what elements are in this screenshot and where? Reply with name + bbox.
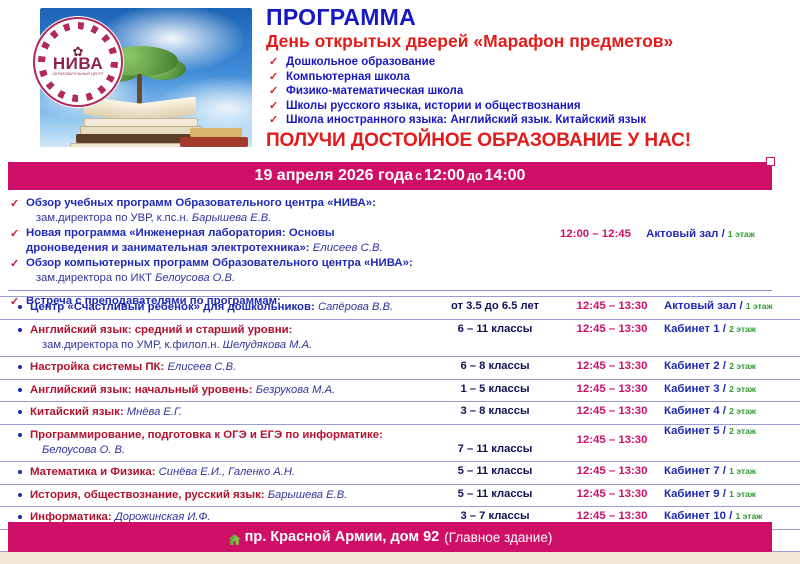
program-title: Китайский язык: bbox=[30, 406, 127, 418]
program-cell: История, обществознание, русский язык: Б… bbox=[0, 485, 430, 507]
grades-cell: 5 – 11 классы bbox=[440, 462, 550, 477]
intro-detail-person: Елисеев С.В. bbox=[313, 242, 383, 254]
time-cell: 12:45 – 13:30 bbox=[556, 462, 668, 477]
room-label: Кабинет 4 / bbox=[664, 405, 726, 417]
program-title: Математика и Физика: bbox=[30, 466, 159, 478]
bullet-icon bbox=[18, 410, 22, 414]
time-cell: 12:45 – 13:30 bbox=[556, 357, 668, 372]
logo-wordmark: НИВА bbox=[52, 56, 103, 72]
table-row: Английский язык: начальный уровень: Безр… bbox=[0, 380, 800, 403]
bullet-icon bbox=[18, 470, 22, 474]
program-teacher: Безрукова М.А. bbox=[256, 384, 335, 396]
time-cell: 12:45 – 13:30 bbox=[556, 402, 668, 417]
floor-label: 1 этаж bbox=[729, 466, 756, 476]
header-bullet-item: ✓Школы русского языка, истории и обществ… bbox=[266, 99, 794, 114]
intro-block: ✓ Обзор учебных программ Образовательног… bbox=[0, 196, 800, 286]
check-icon: ✓ bbox=[10, 227, 19, 240]
time-cell: 12:45 – 13:30 bbox=[556, 507, 668, 522]
page-title: ПРОГРАММА bbox=[266, 4, 794, 30]
footer-note: (Главное здание) bbox=[444, 530, 552, 545]
floor-label: 1 этаж bbox=[729, 489, 756, 499]
bullet-icon bbox=[18, 305, 22, 309]
grades-cell: 6 – 11 классы bbox=[440, 320, 550, 335]
table-row: Английский язык: средний и старший уровн… bbox=[0, 320, 800, 358]
room-label: Актовый зал / bbox=[664, 300, 743, 312]
poster-header: ✿ НИВА ОБРАЗОВАТЕЛЬНЫЙ ЦЕНТР ПРОГРАММА Д… bbox=[0, 0, 800, 156]
event-date: 19 апреля 2026 года bbox=[255, 167, 414, 185]
time-to-label: до bbox=[467, 169, 483, 183]
table-row: История, обществознание, русский язык: Б… bbox=[0, 485, 800, 508]
time-from-label: с bbox=[415, 169, 422, 183]
check-icon: ✓ bbox=[10, 197, 19, 210]
program-teacher: Барышева Е.В. bbox=[268, 489, 348, 501]
room-cell: Кабинет 4 / 2 этаж bbox=[664, 402, 800, 417]
program-title: Английский язык: начальный уровень: bbox=[30, 384, 256, 396]
check-icon: ✓ bbox=[269, 84, 278, 99]
bullet-icon bbox=[18, 365, 22, 369]
intro-detail-plain: зам.директора по ИКТ bbox=[36, 272, 155, 284]
program-name: Английский язык: начальный уровень: Безр… bbox=[30, 383, 430, 399]
room-cell: Кабинет 3 / 2 этаж bbox=[664, 380, 800, 395]
book-side-1 bbox=[190, 128, 242, 137]
time-cell: 12:45 – 13:30 bbox=[556, 380, 668, 395]
program-subline-person: Шелудякова М.А. bbox=[223, 339, 313, 351]
book-side-2 bbox=[180, 137, 248, 147]
table-row: Китайский язык: Мнёва Е.Г.3 – 8 классы12… bbox=[0, 402, 800, 425]
header-text-block: ПРОГРАММА День открытых дверей «Марафон … bbox=[266, 4, 794, 153]
page-subtitle: День открытых дверей «Марафон предметов» bbox=[266, 29, 794, 53]
grades-cell: 3 – 7 классы bbox=[440, 507, 550, 522]
intro-item-detail: зам.директора по УВР, к.пс.н. Барышева Е… bbox=[26, 211, 800, 226]
logo-subtitle: ОБРАЗОВАТЕЛЬНЫЙ ЦЕНТР bbox=[52, 72, 103, 77]
table-row: Настройка системы ПК: Елисеев С.В.6 – 8 … bbox=[0, 357, 800, 380]
floor-label: 1 этаж bbox=[746, 301, 773, 311]
poster-root: ✿ НИВА ОБРАЗОВАТЕЛЬНЫЙ ЦЕНТР ПРОГРАММА Д… bbox=[0, 0, 800, 564]
floor-label: 2 этаж bbox=[729, 384, 756, 394]
footer-address-bar: пр. Красной Армии, дом 92 (Главное здани… bbox=[8, 522, 772, 552]
program-cell: Программирование, подготовка к ОГЭ и ЕГЭ… bbox=[0, 425, 430, 462]
room-label: Кабинет 3 / bbox=[664, 383, 726, 395]
check-icon: ✓ bbox=[269, 55, 278, 70]
program-name: Английский язык: средний и старший уровн… bbox=[30, 323, 430, 339]
intro-detail-person: Белоусова О.В. bbox=[155, 272, 235, 284]
bullet-icon bbox=[18, 433, 22, 437]
intro-item-title: Обзор компьютерных программ Образователь… bbox=[26, 256, 800, 271]
grades-cell: 5 – 11 классы bbox=[440, 485, 550, 500]
intro-meta: 12:00 – 12:45 Актовый зал / 1 этаж bbox=[560, 228, 800, 240]
program-table: Центр «Счастливый ребенок» для дошкольни… bbox=[0, 296, 800, 552]
table-row: Центр «Счастливый ребенок» для дошкольни… bbox=[0, 296, 800, 320]
intro-item: ✓ Обзор учебных программ Образовательног… bbox=[0, 196, 800, 226]
program-teacher: Елисеев С.В. bbox=[167, 361, 236, 373]
header-bullet-item: ✓Дошкольное образование bbox=[266, 55, 794, 70]
intro-room: Актовый зал / bbox=[646, 228, 725, 240]
header-bullet-label: Дошкольное образование bbox=[286, 56, 435, 68]
check-icon: ✓ bbox=[269, 113, 278, 128]
room-label: Кабинет 9 / bbox=[664, 488, 726, 500]
floor-label: 2 этаж bbox=[729, 324, 756, 334]
room-label: Кабинет 1 / bbox=[664, 323, 726, 335]
header-bullet-label: Школы русского языка, истории и общество… bbox=[286, 100, 581, 112]
room-label: Кабинет 2 / bbox=[664, 360, 726, 372]
grades-cell: 1 – 5 классы bbox=[440, 380, 550, 395]
room-label: Кабинет 7 / bbox=[664, 465, 726, 477]
bullet-icon bbox=[18, 515, 22, 519]
intro-detail-plain: зам.директора по УВР, к.пс.н. bbox=[36, 212, 192, 224]
program-subline-person: Белоусова О. В. bbox=[42, 444, 125, 456]
room-cell: Кабинет 7 / 1 этаж bbox=[664, 462, 800, 477]
room-cell: Кабинет 5 / 2 этаж bbox=[664, 425, 800, 437]
footer-address: пр. Красной Армии, дом 92 bbox=[245, 529, 440, 545]
floor-label: 2 этаж bbox=[729, 426, 756, 436]
check-icon: ✓ bbox=[269, 99, 278, 114]
program-name: Китайский язык: Мнёва Е.Г. bbox=[30, 405, 430, 421]
program-name: История, обществознание, русский язык: Б… bbox=[30, 488, 430, 504]
room-label: Кабинет 10 / bbox=[664, 510, 732, 522]
niva-logo: ✿ НИВА ОБРАЗОВАТЕЛЬНЫЙ ЦЕНТР bbox=[33, 17, 123, 107]
bullet-icon bbox=[18, 328, 22, 332]
floor-label: 2 этаж bbox=[729, 406, 756, 416]
program-teacher: Мнёва Е.Г. bbox=[127, 406, 182, 418]
program-teacher: Сапёрова В.В. bbox=[318, 301, 393, 313]
program-title: Центр «Счастливый ребенок» для дошкольни… bbox=[30, 301, 318, 313]
intro-item-title: Обзор учебных программ Образовательного … bbox=[26, 196, 800, 211]
header-bullet-item: ✓Физико-математическая школа bbox=[266, 84, 794, 99]
resize-handle[interactable] bbox=[766, 157, 775, 166]
room-cell: Кабинет 9 / 1 этаж bbox=[664, 485, 800, 500]
room-cell: Кабинет 10 / 1 этаж bbox=[664, 507, 800, 522]
table-row: Математика и Физика: Синёва Е.И., Галенк… bbox=[0, 462, 800, 485]
header-bullet-label: Компьютерная школа bbox=[286, 71, 410, 83]
intro-item: ✓ Обзор компьютерных программ Образовате… bbox=[0, 256, 800, 286]
header-bullet-label: Школа иностранного языка: Английский язы… bbox=[286, 114, 646, 126]
grades-cell: от 3.5 до 6.5 лет bbox=[440, 297, 550, 312]
room-cell: Кабинет 1 / 2 этаж bbox=[664, 320, 800, 335]
header-bullet-item: ✓Школа иностранного языка: Английский яз… bbox=[266, 113, 794, 128]
time-cell: 12:45 – 13:30 bbox=[556, 297, 668, 312]
room-cell: Кабинет 2 / 2 этаж bbox=[664, 357, 800, 372]
program-subline: зам.директора по УМР, к.филол.н. Шелудяк… bbox=[30, 338, 430, 353]
intro-item-detail: зам.директора по ИКТ Белоусова О.В. bbox=[26, 271, 800, 286]
program-teacher: Синёва Е.И., Галенко А.Н. bbox=[159, 466, 295, 478]
program-cell: Английский язык: начальный уровень: Безр… bbox=[0, 380, 430, 402]
tree-trunk bbox=[137, 74, 142, 104]
intro-time: 12:00 – 12:45 bbox=[560, 228, 631, 240]
bullet-icon bbox=[18, 388, 22, 392]
bottom-strip bbox=[0, 552, 800, 564]
program-cell: Настройка системы ПК: Елисеев С.В. bbox=[0, 357, 430, 379]
check-icon: ✓ bbox=[10, 257, 19, 270]
program-cell: Математика и Физика: Синёва Е.И., Галенк… bbox=[0, 462, 430, 484]
program-name: Программирование, подготовка к ОГЭ и ЕГЭ… bbox=[30, 428, 430, 444]
house-icon bbox=[228, 533, 241, 546]
program-subline-plain: зам.директора по УМР, к.филол.н. bbox=[42, 339, 223, 351]
header-bullet-item: ✓Компьютерная школа bbox=[266, 70, 794, 85]
program-subline: Белоусова О. В. bbox=[30, 443, 430, 458]
intro-detail-person: Барышева Е.В. bbox=[192, 212, 272, 224]
floor-label: 2 этаж bbox=[729, 361, 756, 371]
program-name: Математика и Физика: Синёва Е.И., Галенк… bbox=[30, 465, 430, 481]
time-from-value: 12:00 bbox=[424, 167, 465, 185]
header-cta: ПОЛУЧИ ДОСТОЙНОЕ ОБРАЗОВАНИЕ У НАС! bbox=[266, 129, 794, 153]
intro-floor: 1 этаж bbox=[728, 229, 755, 239]
program-cell: Центр «Счастливый ребенок» для дошкольни… bbox=[0, 297, 430, 319]
time-to-value: 14:00 bbox=[485, 167, 526, 185]
grades-cell: 3 – 8 классы bbox=[440, 402, 550, 417]
check-icon: ✓ bbox=[269, 70, 278, 85]
room-cell: Актовый зал / 1 этаж bbox=[664, 297, 800, 312]
grades-cell: 7 – 11 классы bbox=[440, 443, 550, 455]
floor-label: 1 этаж bbox=[735, 511, 762, 521]
intro-item-title-line2: дроноведения и занимательная электротехн… bbox=[26, 241, 800, 256]
date-banner: 19 апреля 2026 года с 12:00 до 14:00 bbox=[8, 162, 772, 190]
program-name: Центр «Счастливый ребенок» для дошкольни… bbox=[30, 300, 430, 316]
time-cell: 12:45 – 13:30 bbox=[556, 485, 668, 500]
bullet-icon bbox=[18, 493, 22, 497]
intro-title2-text: дроноведения и занимательная электротехн… bbox=[26, 242, 310, 254]
program-title: Программирование, подготовка к ОГЭ и ЕГЭ… bbox=[30, 429, 383, 441]
time-cell: 12:45 – 13:30 bbox=[556, 434, 668, 446]
program-name: Настройка системы ПК: Елисеев С.В. bbox=[30, 360, 430, 376]
time-cell: 12:45 – 13:30 bbox=[556, 320, 668, 335]
program-title: Настройка системы ПК: bbox=[30, 361, 167, 373]
header-bullet-label: Физико-математическая школа bbox=[286, 85, 463, 97]
grades-cell: 6 – 8 классы bbox=[440, 357, 550, 372]
program-title: История, обществознание, русский язык: bbox=[30, 489, 268, 501]
room-label: Кабинет 5 / bbox=[664, 425, 726, 437]
program-cell: Английский язык: средний и старший уровн… bbox=[0, 320, 430, 357]
program-cell: Китайский язык: Мнёва Е.Г. bbox=[0, 402, 430, 424]
header-bullet-list: ✓Дошкольное образование ✓Компьютерная шк… bbox=[266, 55, 794, 128]
section-divider bbox=[8, 290, 772, 291]
table-row: Программирование, подготовка к ОГЭ и ЕГЭ… bbox=[0, 425, 800, 463]
logo-inner: ✿ НИВА ОБРАЗОВАТЕЛЬНЫЙ ЦЕНТР bbox=[52, 47, 103, 77]
program-title: Английский язык: средний и старший уровн… bbox=[30, 324, 292, 336]
